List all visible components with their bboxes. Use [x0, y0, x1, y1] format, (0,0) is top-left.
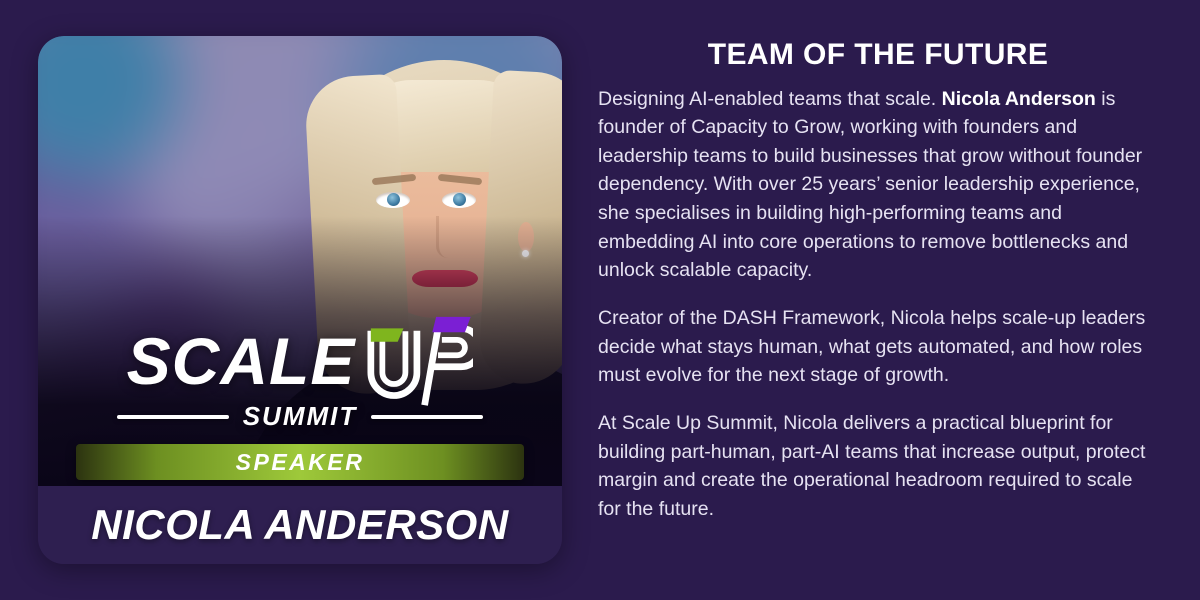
- headline: TEAM OF THE FUTURE: [598, 38, 1158, 73]
- paragraph-2: Creator of the DASH Framework, Nicola he…: [598, 304, 1158, 390]
- paragraph-1-lead: Designing AI-enabled teams that scale.: [598, 88, 942, 110]
- speaker-name-band: NICOLA ANDERSON: [38, 486, 562, 564]
- speaker-name: NICOLA ANDERSON: [91, 501, 508, 549]
- speaker-badge: SPEAKER: [76, 444, 524, 480]
- speaker-card: SCALE: [38, 36, 562, 564]
- paragraph-1-bold-name: Nicola Anderson: [942, 88, 1096, 110]
- speaker-promo-canvas: SCALE: [0, 0, 1200, 600]
- summit-rule-left: [117, 415, 229, 419]
- paragraph-1-rest: is founder of Capacity to Grow, working …: [598, 88, 1142, 282]
- paragraph-3: At Scale Up Summit, Nicola delivers a pr…: [598, 409, 1158, 524]
- summit-rule-right: [371, 415, 483, 419]
- logo-scale-row: SCALE: [38, 315, 562, 407]
- logo-scale-word: SCALE: [127, 328, 356, 394]
- scale-up-summit-logo: SCALE: [38, 315, 562, 486]
- speaker-copy: TEAM OF THE FUTURE Designing AI-enabled …: [598, 38, 1158, 524]
- speaker-badge-label: SPEAKER: [236, 449, 365, 476]
- paragraph-1: Designing AI-enabled teams that scale. N…: [598, 85, 1158, 286]
- speaker-photo: SCALE: [38, 36, 562, 486]
- up-monogram-icon: [357, 313, 473, 409]
